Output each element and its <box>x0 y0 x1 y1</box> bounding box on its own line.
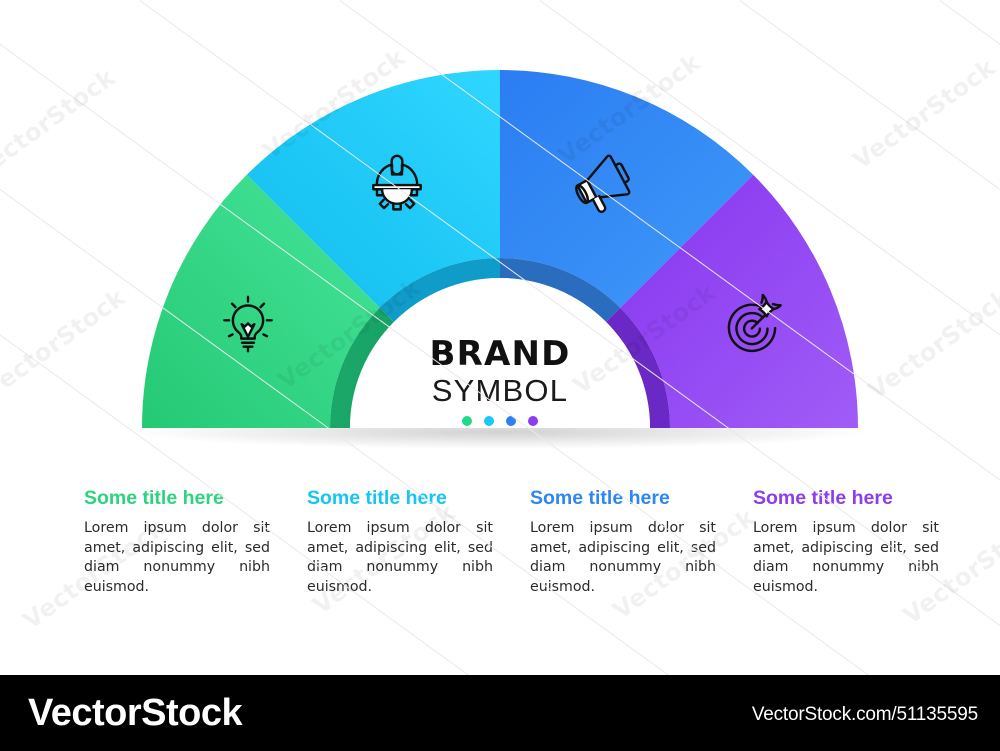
brand-title-line2: SYMBOL <box>350 372 650 410</box>
legend-title-2: Some title here <box>307 486 493 510</box>
brand-dot-3 <box>506 416 516 426</box>
legend-body-2: Lorem ipsum dolor sit amet, adipiscing e… <box>307 519 493 597</box>
lightbulb-icon <box>211 287 285 361</box>
target-arrow-icon <box>715 287 789 361</box>
brand-dot-2 <box>484 416 494 426</box>
legend-column-1: Some title here Lorem ipsum dolor sit am… <box>84 486 270 597</box>
megaphone-icon <box>566 146 640 220</box>
legend-column-4: Some title here Lorem ipsum dolor sit am… <box>753 486 939 597</box>
brand-dot-row <box>350 416 650 426</box>
vectorstock-url: VectorStock.com/51135595 <box>752 704 978 726</box>
legend-title-3: Some title here <box>530 486 716 510</box>
semicircle-diagram: BRAND SYMBOL <box>0 0 1000 460</box>
brand-center-block: BRAND SYMBOL <box>350 336 650 426</box>
legend-column-2: Some title here Lorem ipsum dolor sit am… <box>307 486 493 597</box>
infographic-canvas: BRAND SYMBOL Some title here Lorem ipsum… <box>0 0 1000 751</box>
vectorstock-logo: VectorStock <box>28 692 242 735</box>
brand-dot-1 <box>462 416 472 426</box>
legend-column-3: Some title here Lorem ipsum dolor sit am… <box>530 486 716 597</box>
legend-body-1: Lorem ipsum dolor sit amet, adipiscing e… <box>84 519 270 597</box>
hardhat-gear-icon <box>360 146 434 220</box>
legend-body-4: Lorem ipsum dolor sit amet, adipiscing e… <box>753 519 939 597</box>
brand-dot-4 <box>528 416 538 426</box>
brand-title-line1: BRAND <box>350 336 650 372</box>
legend-title-1: Some title here <box>84 486 270 510</box>
legend-row: Some title here Lorem ipsum dolor sit am… <box>0 486 1000 626</box>
legend-title-4: Some title here <box>753 486 939 510</box>
legend-body-3: Lorem ipsum dolor sit amet, adipiscing e… <box>530 519 716 597</box>
footer-bar: VectorStock VectorStock.com/51135595 <box>0 675 1000 751</box>
